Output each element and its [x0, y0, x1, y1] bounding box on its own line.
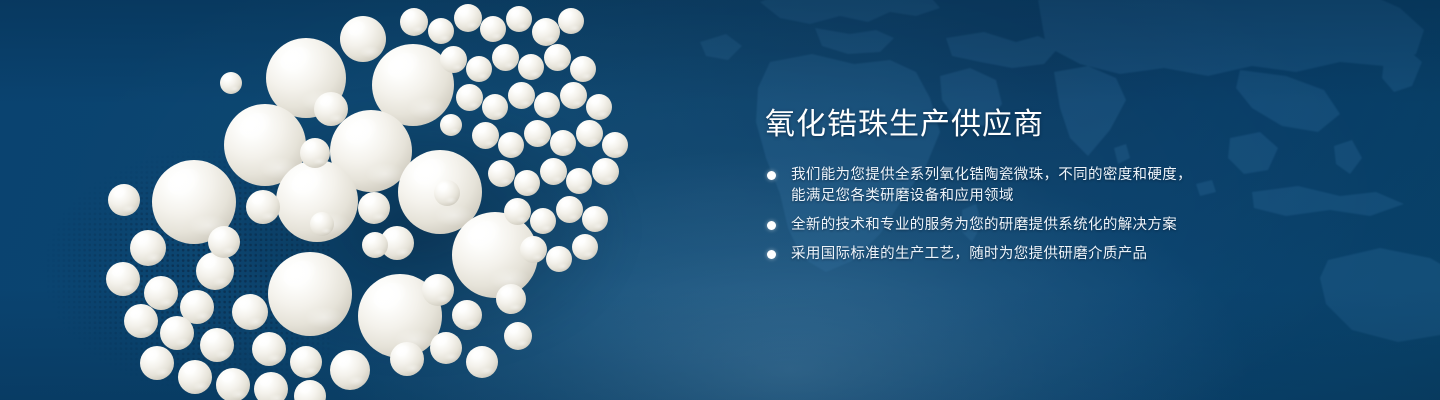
bullet-dot-icon — [767, 250, 776, 259]
banner-bullet-list: 我们能为您提供全系列氧化锆陶瓷微珠，不同的密度和硬度， 能满足您各类研磨设备和应… — [765, 165, 1325, 265]
bullet-line-2: 能满足您各类研磨设备和应用领域 — [791, 186, 1325, 207]
banner-bullet-item: 我们能为您提供全系列氧化锆陶瓷微珠，不同的密度和硬度， 能满足您各类研磨设备和应… — [765, 165, 1325, 207]
bullet-dot-icon — [767, 171, 776, 180]
hero-banner: 氧化锆珠生产供应商 我们能为您提供全系列氧化锆陶瓷微珠，不同的密度和硬度， 能满… — [0, 0, 1440, 400]
banner-headline: 氧化锆珠生产供应商 — [765, 108, 1325, 142]
bullet-dot-icon — [767, 221, 776, 230]
bullet-line-1: 采用国际标准的生产工艺，随时为您提供研磨介质产品 — [791, 246, 1147, 262]
banner-copy: 氧化锆珠生产供应商 我们能为您提供全系列氧化锆陶瓷微珠，不同的密度和硬度， 能满… — [765, 108, 1325, 273]
banner-bullet-item: 采用国际标准的生产工艺，随时为您提供研磨介质产品 — [765, 244, 1325, 265]
bullet-line-1: 我们能为您提供全系列氧化锆陶瓷微珠，不同的密度和硬度， — [791, 167, 1192, 183]
banner-bullet-item: 全新的技术和专业的服务为您的研磨提供系统化的解决方案 — [765, 215, 1325, 236]
bullet-line-1: 全新的技术和专业的服务为您的研磨提供系统化的解决方案 — [791, 217, 1177, 233]
zirconia-bead-cluster — [100, 0, 740, 400]
